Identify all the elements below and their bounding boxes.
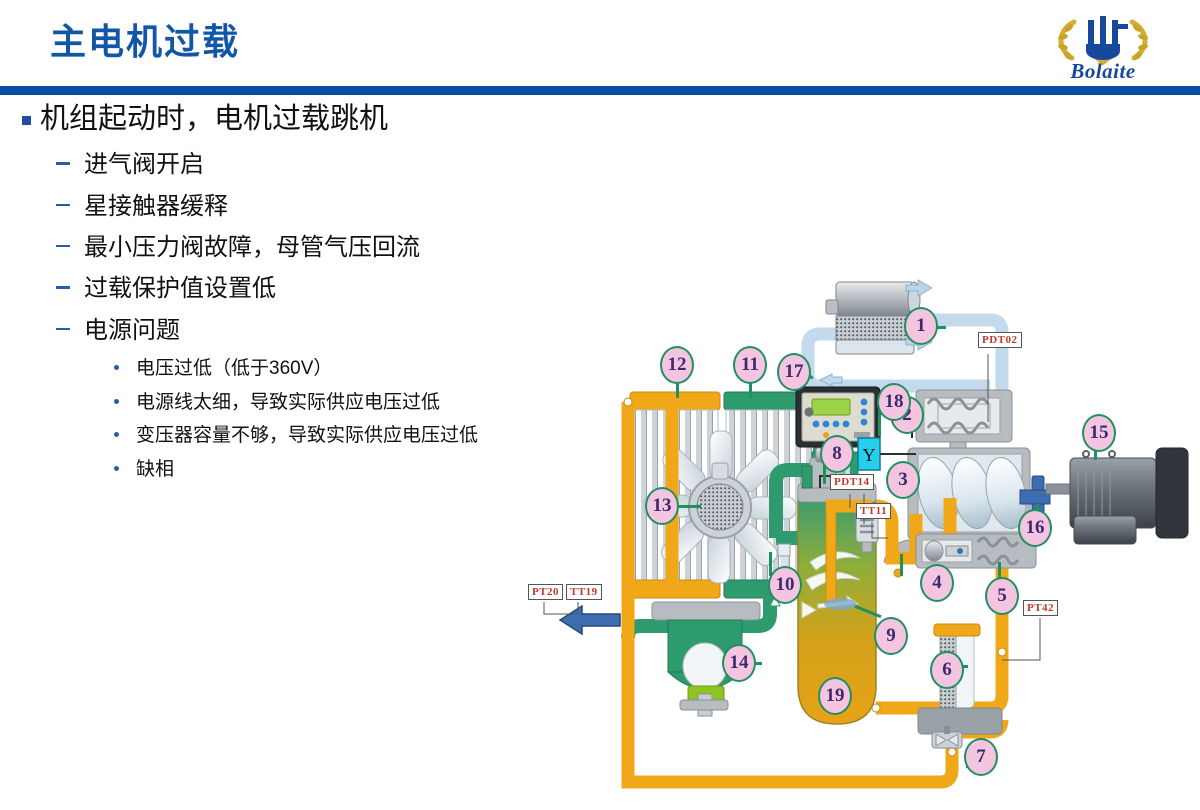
callout-14[interactable]: 14 [722, 644, 756, 682]
bullet-item-l3: 缺相 [14, 457, 534, 484]
callout-18[interactable]: 18 [877, 383, 911, 421]
callout-8[interactable]: 8 [820, 435, 854, 473]
callout-11[interactable]: 11 [733, 346, 767, 384]
bullet-item-l2: 最小压力阀故障，母管气压回流 [14, 232, 534, 264]
callout-4[interactable]: 4 [920, 564, 954, 602]
screw-air-compressor-flow-diagram: Y PDT02 PDT14 TT11 PT42 PT20 TT19 1 2 3 … [520, 262, 1200, 810]
bullet-marker-square [14, 100, 40, 125]
callout-9[interactable]: 9 [874, 617, 908, 655]
star-box-label: Y [863, 445, 876, 465]
callout-12[interactable]: 12 [660, 346, 694, 384]
bullet-text: 过载保护值设置低 [84, 273, 276, 305]
drain-port [778, 544, 790, 556]
callout-5[interactable]: 5 [985, 577, 1019, 615]
bullet-marker-dot [110, 390, 136, 404]
bullet-text: 星接触器缓释 [84, 191, 228, 223]
bullet-marker-dash [56, 232, 84, 248]
bullet-marker-dot [110, 356, 136, 370]
callout-7[interactable]: 7 [964, 738, 998, 776]
bullet-text: 电压过低（低于360V） [136, 356, 332, 383]
bullet-list: 机组起动时，电机过载跳机 进气阀开启 星接触器缓释 最小压力阀故障，母管气压回流… [14, 100, 534, 490]
star-delta-contactor-box: Y [858, 438, 880, 470]
bullet-item-l2: 星接触器缓释 [14, 191, 534, 223]
bullet-item-l2: 过载保护值设置低 [14, 273, 534, 305]
bullet-item-l3: 电源线太细，导致实际供应电压过低 [14, 390, 534, 417]
bullet-text: 变压器容量不够，导致实际供应电压过低 [136, 423, 478, 450]
bullet-item-l3: 电压过低（低于360V） [14, 356, 534, 383]
bullet-text: 电源线太细，导致实际供应电压过低 [136, 390, 440, 417]
controller-screen [812, 399, 850, 415]
bullet-text: 缺相 [136, 457, 174, 484]
outlet-arrow-icon [560, 606, 620, 634]
callout-1[interactable]: 1 [904, 307, 938, 345]
callout-3[interactable]: 3 [886, 461, 920, 499]
callout-15[interactable]: 15 [1082, 414, 1116, 452]
bullet-marker-dot [110, 457, 136, 471]
sensor-tag-pt42: PT42 [1023, 600, 1058, 616]
minimum-pressure-valve-part [916, 534, 1036, 568]
callout-6[interactable]: 6 [930, 651, 964, 689]
callout-17[interactable]: 17 [777, 353, 811, 391]
callout-lead-4 [900, 554, 903, 576]
callout-19[interactable]: 19 [818, 677, 852, 715]
bullet-text: 机组起动时，电机过载跳机 [40, 100, 388, 139]
callout-10[interactable]: 10 [768, 566, 802, 604]
sensor-tag-tt11: TT11 [856, 503, 891, 519]
bullet-marker-dash [56, 273, 84, 289]
sensor-tag-pdt14: PDT14 [830, 474, 874, 490]
page-title: 主电机过载 [50, 22, 240, 62]
bullet-marker-dot [110, 423, 136, 437]
bullet-marker-dash [56, 315, 84, 331]
title-divider [0, 86, 1200, 95]
bolaite-logo: Bolaite [1028, 6, 1178, 86]
bullet-text: 电源问题 [84, 315, 180, 347]
controller-knob[interactable] [804, 407, 813, 416]
bullet-marker-dash [56, 191, 84, 207]
bullet-marker-dash [56, 149, 84, 165]
bullet-item-l2: 进气阀开启 [14, 149, 534, 181]
main-motor-part [1046, 448, 1188, 544]
sensor-tag-pt20: PT20 [528, 584, 563, 600]
separator-element [826, 506, 836, 602]
logo-wordmark: Bolaite [1028, 59, 1178, 84]
sensor-tag-pdt02: PDT02 [978, 332, 1022, 348]
bullet-item-l2: 电源问题 [14, 315, 534, 347]
bullet-text: 最小压力阀故障，母管气压回流 [84, 232, 420, 264]
callout-16[interactable]: 16 [1018, 509, 1052, 547]
diagram-canvas: Y [520, 262, 1200, 810]
bullet-item-l1: 机组起动时，电机过载跳机 [14, 100, 534, 139]
sensor-tag-tt19: TT19 [566, 584, 602, 600]
bullet-item-l3: 变压器容量不够，导致实际供应电压过低 [14, 423, 534, 450]
bullet-text: 进气阀开启 [84, 149, 204, 181]
callout-13[interactable]: 13 [645, 487, 679, 525]
